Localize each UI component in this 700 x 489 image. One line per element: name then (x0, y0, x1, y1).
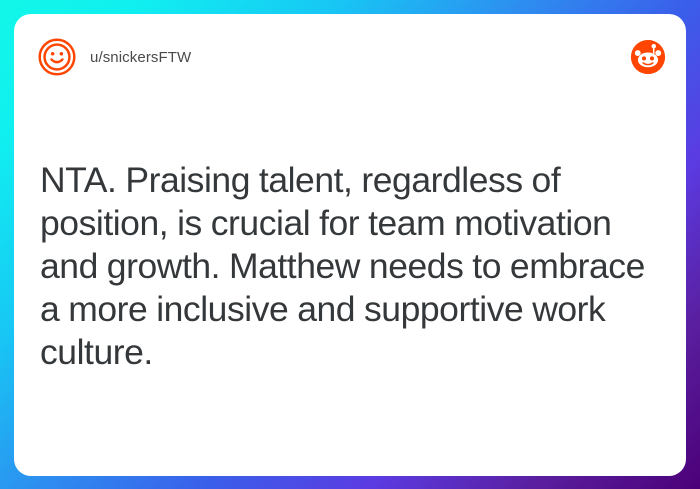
username-label: u/snickersFTW (90, 49, 191, 66)
smiley-face-avatar-icon[interactable] (38, 38, 76, 76)
screenshot-stage: u/snickersFTW NTA. Praising talent, rega… (0, 0, 700, 489)
comment-text: NTA. Praising talent, regardless of posi… (40, 159, 658, 374)
card-header: u/snickersFTW (14, 14, 686, 100)
reddit-snoo-logo-icon[interactable] (630, 39, 666, 75)
reddit-comment-card: u/snickersFTW NTA. Praising talent, rega… (14, 14, 686, 476)
